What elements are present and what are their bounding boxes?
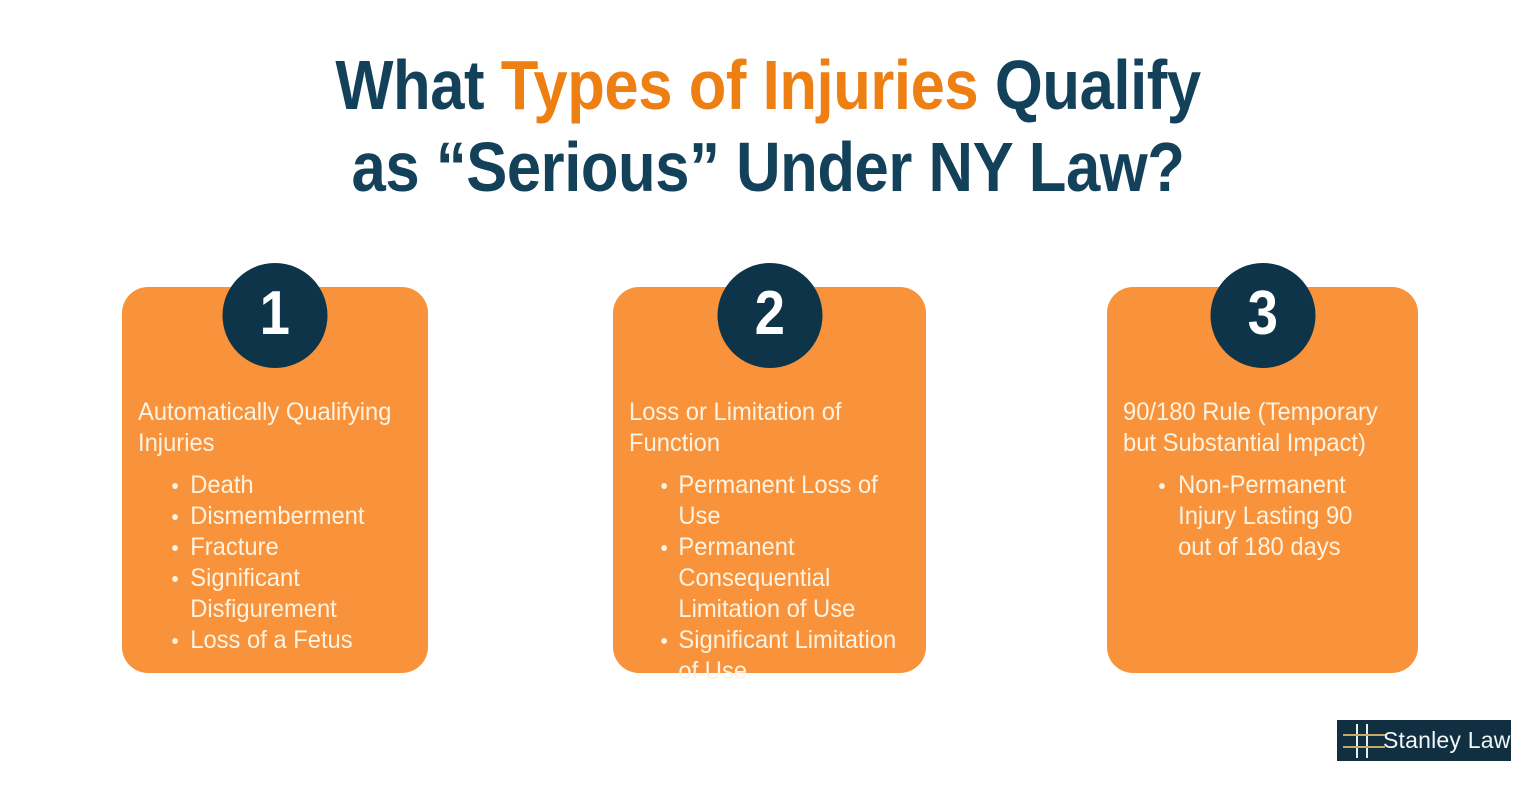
title-line-1: What Types of Injuries Qualify bbox=[92, 44, 1444, 126]
card-3-content: 90/180 Rule (Temporary but Substantial I… bbox=[1107, 397, 1418, 563]
list-item: Significant Disfigurement bbox=[138, 563, 400, 625]
card-3-number-badge: 3 bbox=[1210, 263, 1315, 368]
list-item: Fracture bbox=[138, 532, 400, 563]
page-title: What Types of Injuries Qualify as “Serio… bbox=[0, 44, 1536, 208]
list-item: Loss of a Fetus bbox=[138, 625, 400, 656]
stanley-law-logo[interactable]: Stanley Law bbox=[1337, 720, 1511, 761]
title-line-1-highlight: Types of Injuries bbox=[501, 46, 978, 124]
card-2-heading: Loss or Limitation of Function bbox=[629, 397, 898, 459]
card-3-number: 3 bbox=[1247, 283, 1277, 348]
card-2: Loss or Limitation of Function Permanent… bbox=[613, 263, 926, 673]
card-1-list: Death Dismemberment Fracture Significant… bbox=[138, 470, 414, 656]
list-item: Non-Permanent Injury Lasting 90 out of 1… bbox=[1123, 470, 1390, 563]
infographic-page: What Types of Injuries Qualify as “Serio… bbox=[0, 0, 1536, 787]
list-item: Dismemberment bbox=[138, 501, 400, 532]
card-3: 90/180 Rule (Temporary but Substantial I… bbox=[1107, 263, 1418, 673]
card-1-heading: Automatically Qualifying Injuries bbox=[138, 397, 400, 459]
logo-text: Stanley Law bbox=[1383, 729, 1511, 752]
card-1: Automatically Qualifying Injuries Death … bbox=[122, 263, 428, 673]
list-item: Permanent Loss of Use bbox=[629, 470, 898, 532]
title-line-1-pre: What bbox=[335, 46, 500, 124]
card-2-number: 2 bbox=[754, 283, 784, 348]
card-1-number-badge: 1 bbox=[223, 263, 328, 368]
cards-row: Automatically Qualifying Injuries Death … bbox=[0, 263, 1536, 673]
crosshatch-icon bbox=[1337, 720, 1385, 761]
card-2-content: Loss or Limitation of Function Permanent… bbox=[613, 397, 926, 687]
title-line-2: as “Serious” Under NY Law? bbox=[92, 126, 1444, 208]
card-1-content: Automatically Qualifying Injuries Death … bbox=[122, 397, 428, 656]
card-1-number: 1 bbox=[260, 283, 290, 348]
card-2-number-badge: 2 bbox=[717, 263, 822, 368]
card-3-list: Non-Permanent Injury Lasting 90 out of 1… bbox=[1123, 470, 1404, 563]
card-2-list: Permanent Loss of Use Permanent Conseque… bbox=[629, 470, 912, 687]
list-item: Death bbox=[138, 470, 400, 501]
list-item: Permanent Consequential Limitation of Us… bbox=[629, 532, 898, 625]
list-item: Significant Limitation of Use bbox=[629, 625, 898, 687]
title-line-1-post: Qualify bbox=[978, 46, 1200, 124]
card-3-heading: 90/180 Rule (Temporary but Substantial I… bbox=[1123, 397, 1390, 459]
